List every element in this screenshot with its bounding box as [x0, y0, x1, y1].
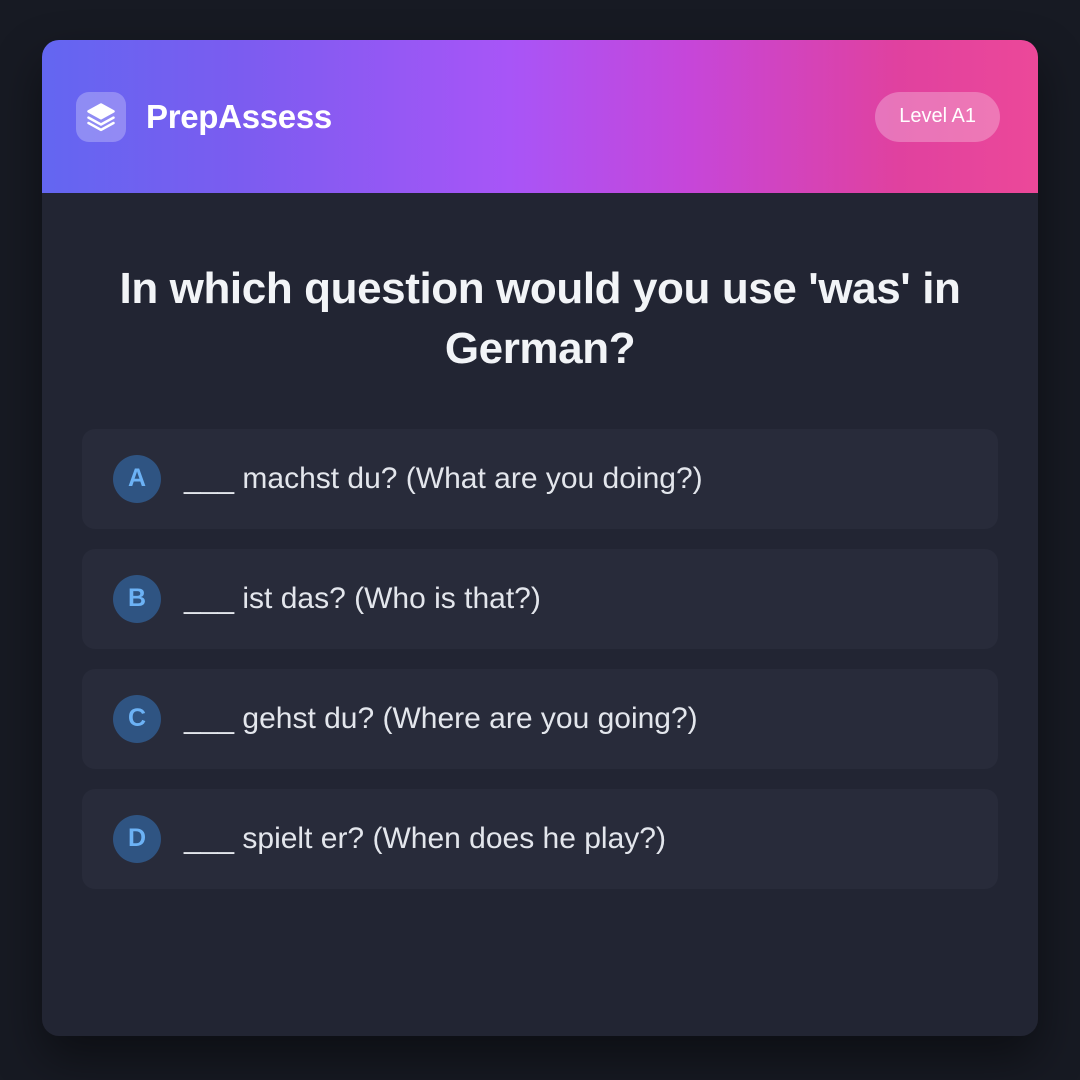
answer-options-list: A ___ machst du? (What are you doing?) B… [82, 429, 998, 889]
screen-root: PrepAssess Level A1 In which question wo… [0, 0, 1080, 1080]
brand-name: PrepAssess [146, 100, 332, 133]
answer-option-b[interactable]: B ___ ist das? (Who is that?) [82, 549, 998, 649]
answer-option-c[interactable]: C ___ gehst du? (Where are you going?) [82, 669, 998, 769]
answer-option-a[interactable]: A ___ machst du? (What are you doing?) [82, 429, 998, 529]
answer-option-d[interactable]: D ___ spielt er? (When does he play?) [82, 789, 998, 889]
layers-stack-icon [76, 92, 126, 142]
brand: PrepAssess [76, 92, 332, 142]
option-text: ___ gehst du? (Where are you going?) [184, 701, 698, 737]
quiz-body: In which question would you use 'was' in… [42, 193, 1038, 1036]
quiz-card: PrepAssess Level A1 In which question wo… [42, 40, 1038, 1036]
option-text: ___ ist das? (Who is that?) [184, 581, 541, 617]
level-badge: Level A1 [875, 92, 1000, 142]
option-letter-badge: D [113, 815, 161, 863]
app-header: PrepAssess Level A1 [42, 40, 1038, 193]
option-letter-badge: B [113, 575, 161, 623]
question-title: In which question would you use 'was' in… [82, 259, 998, 379]
option-text: ___ machst du? (What are you doing?) [184, 461, 703, 497]
option-letter-badge: A [113, 455, 161, 503]
option-text: ___ spielt er? (When does he play?) [184, 821, 666, 857]
option-letter-badge: C [113, 695, 161, 743]
